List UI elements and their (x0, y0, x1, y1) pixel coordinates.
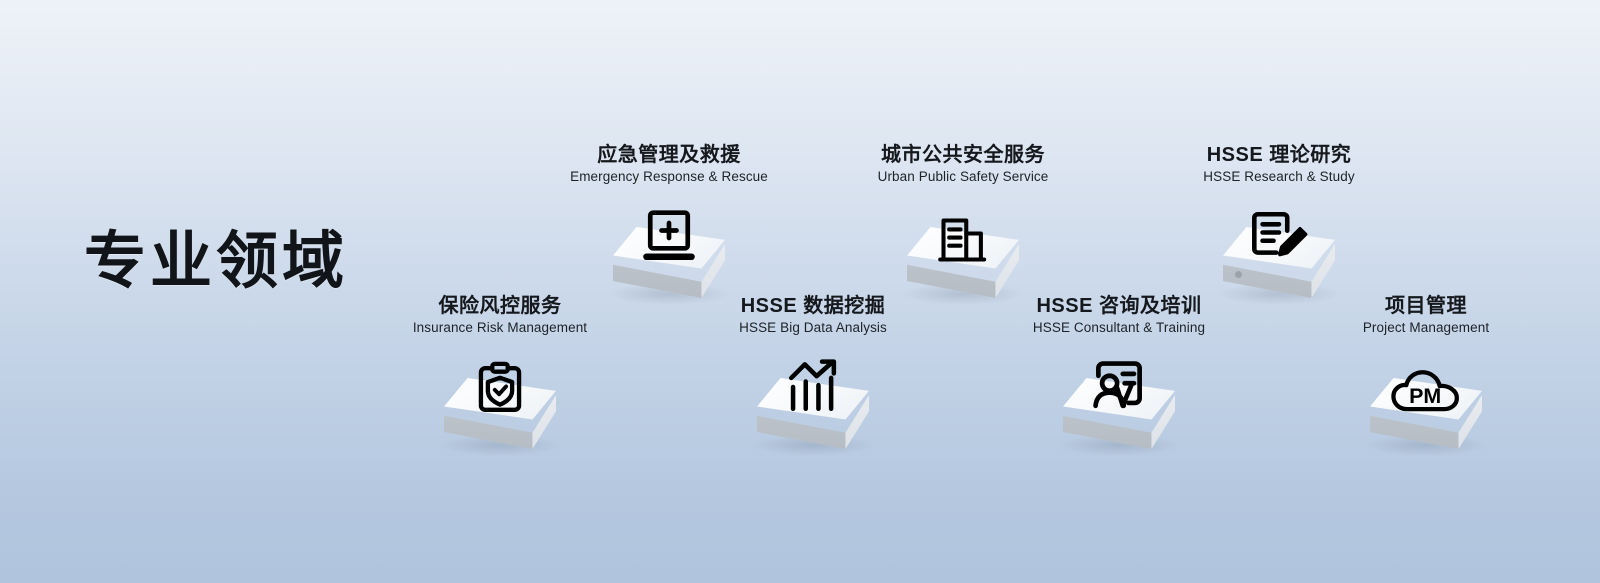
bar-chart-trend-icon (784, 356, 842, 418)
domain-illustration (663, 344, 963, 454)
domain-label-en: Project Management (1276, 318, 1576, 338)
domain-illustration (1129, 193, 1429, 303)
domain-card-project-management[interactable]: 项目管理 Project Management PM (1276, 294, 1576, 454)
domain-label-en: Insurance Risk Management (350, 318, 650, 338)
domain-card-hsse-consultant[interactable]: HSSE 咨询及培训 HSSE Consultant & Training (969, 294, 1269, 454)
domain-labels: 保险风控服务 Insurance Risk Management (350, 294, 650, 338)
domain-label-en: HSSE Big Data Analysis (663, 318, 963, 338)
domain-label-cn: 保险风控服务 (350, 294, 650, 318)
city-buildings-icon (937, 209, 989, 271)
domain-labels: 项目管理 Project Management (1276, 294, 1576, 338)
page-title: 专业领域 (84, 228, 348, 296)
domain-labels: 应急管理及救援 Emergency Response & Rescue (519, 143, 819, 187)
professional-domains-banner: 专业领域 应急管理及救援 Emergency Response & Rescue (0, 0, 1600, 583)
cloud-pm-icon: PM (1390, 368, 1462, 416)
domain-label-cn: HSSE 数据挖掘 (663, 294, 963, 318)
document-pencil-icon (1247, 207, 1311, 269)
domain-labels: HSSE 理论研究 HSSE Research & Study (1129, 143, 1429, 187)
domain-label-cn: 项目管理 (1276, 294, 1576, 318)
domain-labels: 城市公共安全服务 Urban Public Safety Service (813, 143, 1113, 187)
pedestal-accent-dot (1235, 271, 1242, 278)
cloud-pm-label: PM (1409, 384, 1441, 408)
clipboard-shield-check-icon (474, 358, 526, 420)
domain-labels: HSSE 数据挖掘 HSSE Big Data Analysis (663, 294, 963, 338)
domain-label-en: Emergency Response & Rescue (519, 167, 819, 187)
domain-card-hsse-big-data[interactable]: HSSE 数据挖掘 HSSE Big Data Analysis (663, 294, 963, 454)
domain-label-en: Urban Public Safety Service (813, 167, 1113, 187)
domain-label-cn: 应急管理及救援 (519, 143, 819, 167)
domain-illustration (813, 193, 1113, 303)
domain-label-cn: HSSE 理论研究 (1129, 143, 1429, 167)
domain-illustration (350, 344, 650, 454)
medical-monitor-plus-icon (639, 207, 699, 269)
domain-label-cn: HSSE 咨询及培训 (969, 294, 1269, 318)
domain-card-hsse-research[interactable]: HSSE 理论研究 HSSE Research & Study (1129, 143, 1429, 303)
person-id-card-check-icon (1089, 356, 1149, 418)
domain-label-cn: 城市公共安全服务 (813, 143, 1113, 167)
domain-illustration: PM (1276, 344, 1576, 454)
domain-label-en: HSSE Research & Study (1129, 167, 1429, 187)
domain-illustration (519, 193, 819, 303)
domain-card-emergency-response[interactable]: 应急管理及救援 Emergency Response & Rescue (519, 143, 819, 303)
domain-card-insurance-risk[interactable]: 保险风控服务 Insurance Risk Management (350, 294, 650, 454)
domain-label-en: HSSE Consultant & Training (969, 318, 1269, 338)
domain-illustration (969, 344, 1269, 454)
domain-labels: HSSE 咨询及培训 HSSE Consultant & Training (969, 294, 1269, 338)
domain-card-urban-public-safety[interactable]: 城市公共安全服务 Urban Public Safety Service (813, 143, 1113, 303)
